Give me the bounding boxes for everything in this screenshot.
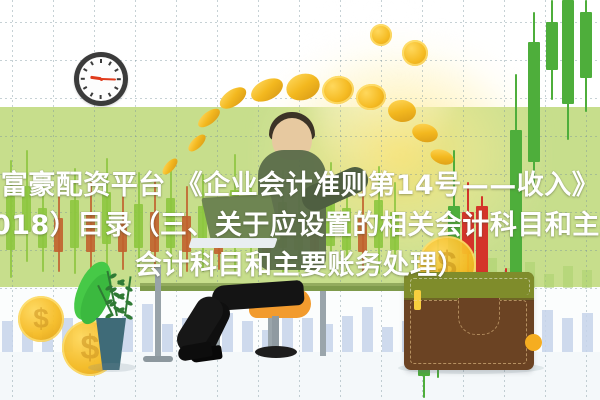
laptop-base	[188, 238, 277, 248]
wallet-stitching-top	[410, 278, 530, 295]
plant-leaflet	[125, 313, 134, 320]
banner-image: $$$ 富豪配资平台 《企业会计准则第14号——收入》 2018）	[0, 0, 600, 400]
plant-shadow	[88, 363, 136, 372]
office-chair-stem	[272, 316, 279, 350]
plant-leaflet	[109, 272, 118, 279]
laptop-screen	[201, 194, 281, 244]
wallet-clasp-tab	[458, 298, 500, 335]
leather-wallet	[404, 272, 534, 370]
wallet-clasp-button	[525, 334, 542, 351]
plant-leaflet	[125, 285, 134, 292]
office-chair-base	[255, 346, 297, 358]
plant-stem	[124, 276, 131, 316]
plant-leaflet	[113, 305, 122, 312]
